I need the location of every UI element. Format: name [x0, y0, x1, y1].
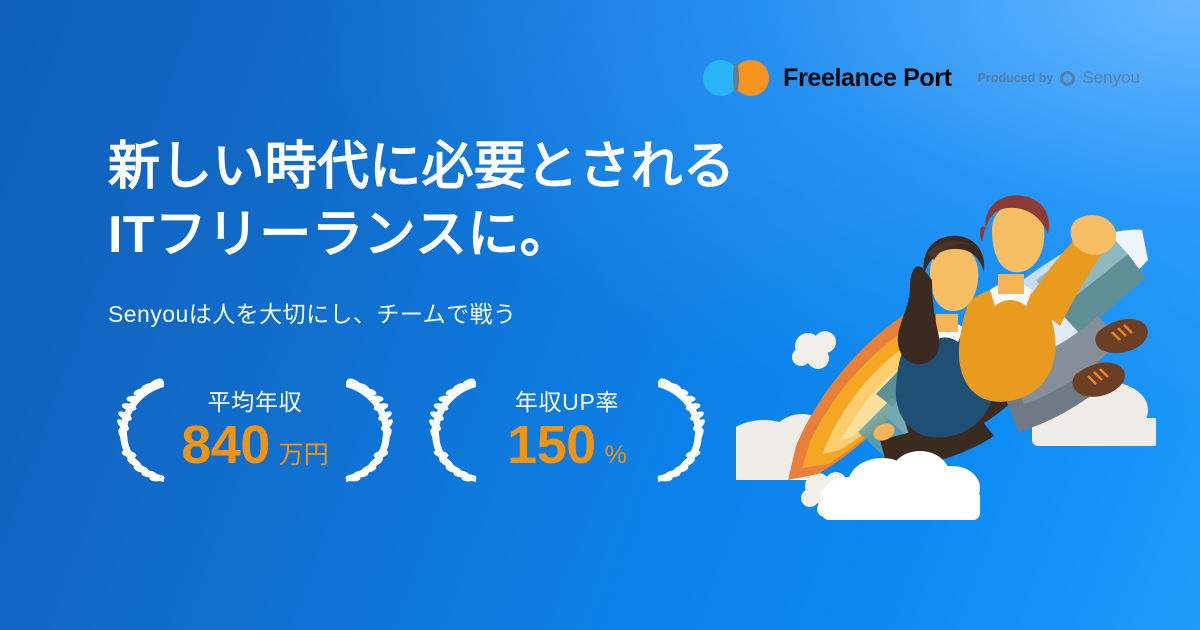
stat-label: 年収UP率 [515, 391, 619, 414]
stat-average-income: 平均年収 840 万円 [106, 372, 404, 490]
hero-copy: 新しい時代に必要とされる ITフリーランスに。 Senyouは人を大切にし、チー… [108, 134, 735, 329]
stat-income-up-rate: 年収UP率 150 % [418, 372, 716, 490]
stat-value-group: 840 万円 [181, 418, 329, 472]
produced-by-label: Produced by [978, 71, 1054, 85]
stat-number: 150 [507, 418, 595, 472]
brand-bar: Freelance Port Produced by Senyou [703, 60, 1140, 96]
brand-name: Freelance Port [783, 64, 951, 93]
laurel-wreath-icon [338, 375, 398, 487]
stat-unit: 万円 [279, 443, 329, 468]
laurel-wreath-icon [112, 375, 172, 487]
stat-number: 840 [181, 418, 269, 472]
rocket-with-two-people-illustration [736, 150, 1156, 550]
stat-unit: % [605, 443, 627, 468]
hero-banner: Freelance Port Produced by Senyou 新しい時代に… [0, 0, 1200, 630]
laurel-wreath-icon [424, 375, 484, 487]
stat-value-group: 150 % [507, 418, 627, 472]
headline-line-1: 新しい時代に必要とされる [108, 134, 735, 202]
stats-group: 平均年収 840 万円 [106, 372, 716, 490]
laurel-wreath-icon [650, 375, 710, 487]
produced-by-group: Produced by Senyou [978, 68, 1140, 88]
hero-subhead: Senyouは人を大切にし、チームで戦う [108, 295, 735, 329]
two-overlapping-circles-logo [703, 60, 769, 96]
stat-label: 平均年収 [208, 391, 303, 414]
headline-line-2: ITフリーランスに。 [108, 202, 735, 270]
senyou-ring-icon [1060, 71, 1075, 86]
produced-by-name: Senyou [1082, 68, 1140, 88]
